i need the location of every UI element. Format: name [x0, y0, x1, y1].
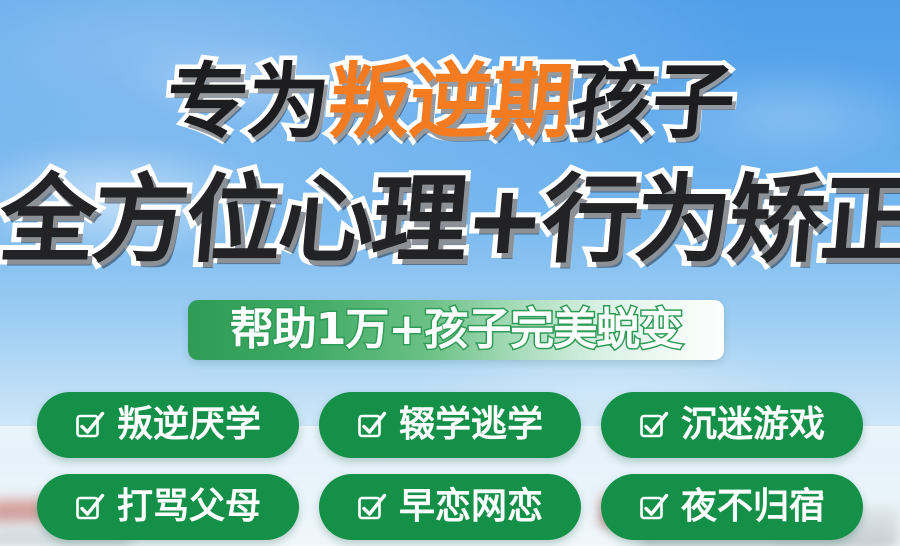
- tag-pill-label: 早恋网恋: [399, 489, 543, 525]
- subtitle-text: 帮助1万+孩子完美蜕变: [230, 308, 682, 352]
- headline-line-1: 专为叛逆期孩子: [0, 62, 900, 144]
- tag-pill-label: 叛逆厌学: [117, 407, 261, 443]
- checkbox-checked-icon: [639, 492, 669, 522]
- banner-canvas: 专为叛逆期孩子 全方位心理+行为矫正 帮助1万+孩子完美蜕变 叛逆厌学: [0, 0, 900, 546]
- tag-pill[interactable]: 夜不归宿: [601, 474, 863, 540]
- tag-pill[interactable]: 沉迷游戏: [601, 392, 863, 458]
- subtitle-banner: 帮助1万+孩子完美蜕变: [188, 300, 724, 360]
- tag-pill-group: 叛逆厌学 辍学逃学 沉迷游戏: [0, 392, 900, 546]
- headline-line-2: 全方位心理+行为矫正: [0, 172, 900, 268]
- headline-segment-3: 孩子: [568, 62, 737, 144]
- checkbox-checked-icon: [357, 410, 387, 440]
- tag-pill[interactable]: 早恋网恋: [319, 474, 581, 540]
- headline-segment-1: 专为: [163, 62, 332, 144]
- headline-segment-highlight: 叛逆期: [325, 62, 575, 144]
- checkbox-checked-icon: [357, 492, 387, 522]
- tag-pill[interactable]: 叛逆厌学: [37, 392, 299, 458]
- tag-pill-label: 沉迷游戏: [681, 407, 825, 443]
- tag-pill-label: 打骂父母: [117, 489, 261, 525]
- checkbox-checked-icon: [639, 410, 669, 440]
- tag-pill-label: 夜不归宿: [681, 489, 825, 525]
- checkbox-checked-icon: [75, 410, 105, 440]
- checkbox-checked-icon: [75, 492, 105, 522]
- tag-pill-label: 辍学逃学: [399, 407, 543, 443]
- tag-pill[interactable]: 辍学逃学: [319, 392, 581, 458]
- tag-pill-row-2: 打骂父母 早恋网恋 夜不归宿: [0, 474, 900, 540]
- tag-pill[interactable]: 打骂父母: [37, 474, 299, 540]
- tag-pill-row-1: 叛逆厌学 辍学逃学 沉迷游戏: [0, 392, 900, 458]
